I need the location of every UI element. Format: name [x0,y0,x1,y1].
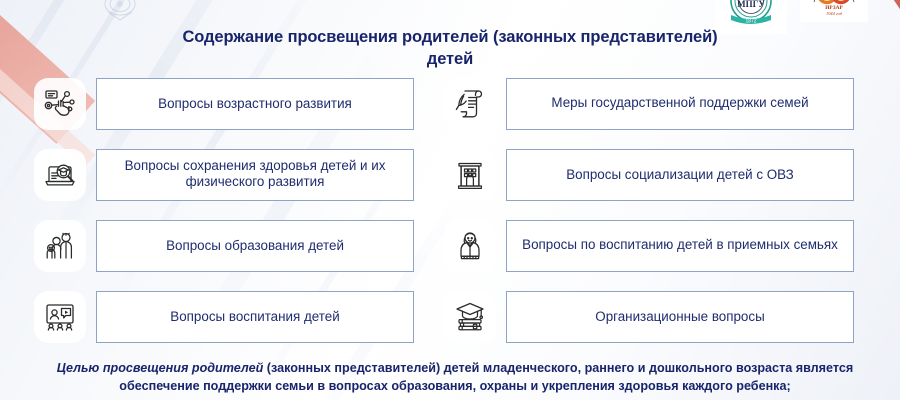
page-title-line-1: Содержание просвещения родителей (законн… [140,27,760,49]
page-title-line-2: детей [140,49,760,71]
list-item-label: Вопросы образования детей [166,238,344,254]
list-item-box[interactable]: Вопросы по воспитанию детей в приемных с… [506,220,854,272]
list-item-box[interactable]: Организационные вопросы [506,291,854,343]
list-item-label: Вопросы сохранения здоровья детей и их ф… [105,158,405,191]
left-item-column: Вопросы возрастного развития Вопросы [34,78,414,343]
list-item[interactable]: Вопросы возрастного развития [34,78,414,130]
list-item[interactable]: Вопросы по воспитанию детей в приемных с… [444,220,854,272]
list-item-box[interactable]: Вопросы образования детей [96,220,414,272]
slide-canvas: МПГУ 1872 ИРЗАР 1944 год Содержание прос… [0,0,900,400]
list-item[interactable]: Организационные вопросы [444,291,854,343]
video-lesson-icon [34,291,86,343]
institution-building-icon [444,149,496,201]
faint-emblem-icon [88,0,152,24]
list-item[interactable]: Меры государственной поддержки семей [444,78,854,130]
list-item-box[interactable]: Вопросы возрастного развития [96,78,414,130]
list-item[interactable]: Вопросы воспитания детей [34,291,414,343]
list-item-box[interactable]: Вопросы воспитания детей [96,291,414,343]
svg-text:1944 год: 1944 год [826,11,843,16]
scroll-quill-icon [444,78,496,130]
footer-emphasis: Целью просвещения родителей [57,361,264,375]
list-item-box[interactable]: Меры государственной поддержки семей [506,78,854,130]
list-item-label: Организационные вопросы [595,309,764,325]
list-item-label: Меры государственной поддержки семей [551,95,808,111]
irdir-logo: ИРЗАР 1944 год [800,0,868,22]
hand-network-icon [34,78,86,130]
list-item-label: Вопросы возрастного развития [158,96,352,112]
list-item-label: Вопросы воспитания детей [170,309,339,325]
list-item-label: Вопросы социализации детей с ОВЗ [566,167,794,183]
graduation-cap-books-icon [444,291,496,343]
svg-text:1872: 1872 [745,19,756,25]
list-item-box[interactable]: Вопросы сохранения здоровья детей и их ф… [96,149,414,201]
woman-teacher-icon [444,220,496,272]
page-title: Содержание просвещения родителей (законн… [140,27,760,71]
svg-text:МПГУ: МПГУ [737,0,765,9]
laptop-search-icon [34,149,86,201]
list-item-box[interactable]: Вопросы социализации детей с ОВЗ [506,149,854,201]
list-item-label: Вопросы по воспитанию детей в приемных с… [522,237,838,253]
footer-note: Целью просвещения родителей (законных пр… [40,360,870,396]
list-item[interactable]: Вопросы сохранения здоровья детей и их ф… [34,149,414,201]
list-item[interactable]: Вопросы образования детей [34,220,414,272]
family-icon [34,220,86,272]
list-item[interactable]: Вопросы социализации детей с ОВЗ [444,149,854,201]
right-item-column: Меры государственной поддержки семей [444,78,854,343]
